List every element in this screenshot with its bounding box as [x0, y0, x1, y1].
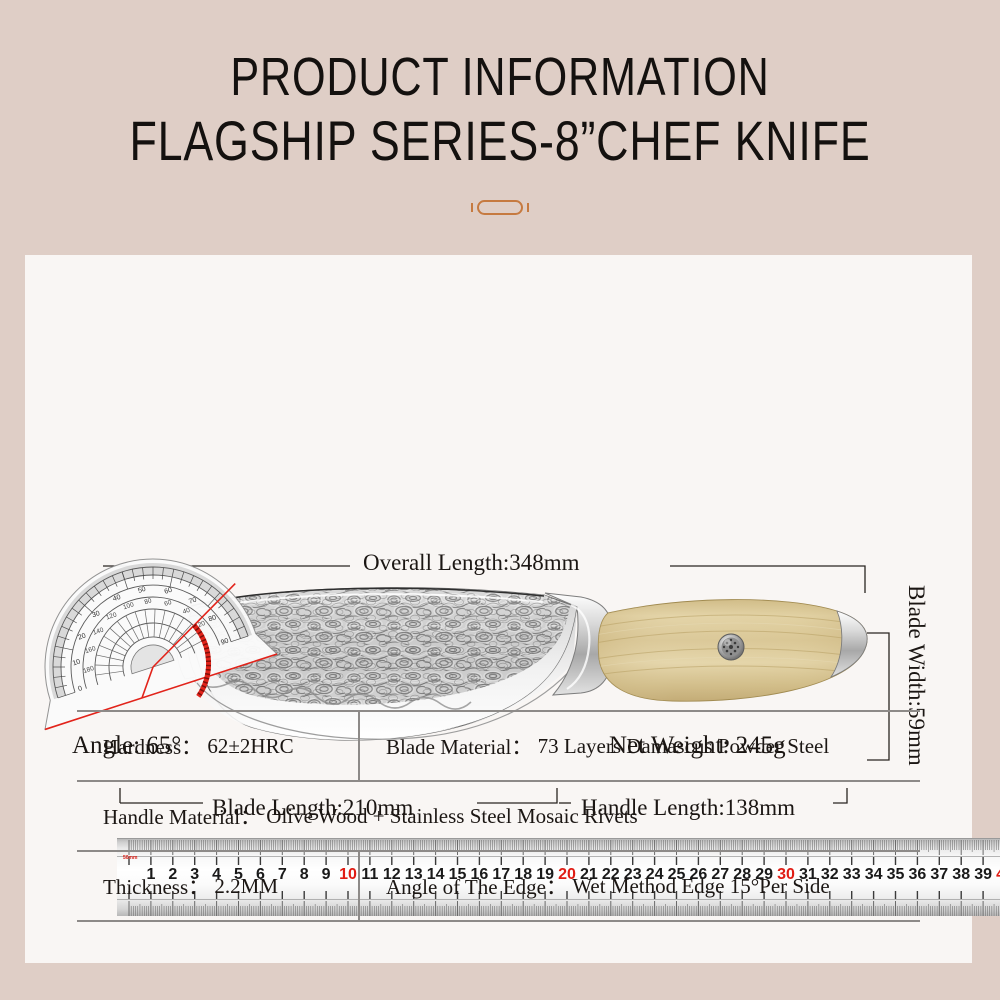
product-info-page: PRODUCT INFORMATION FLAGSHIP SERIES-8”CH…	[0, 0, 1000, 1000]
ornament-pill-icon	[477, 200, 523, 215]
spec-cell: Hardness： 62±2HRC	[77, 712, 360, 780]
spec-cell: Angle of The Edge： Wet Method Edge 15°Pe…	[360, 852, 920, 920]
ruler-number: 38	[952, 866, 970, 884]
knife-diagram: 0 10 20 30 40 50 60 70 80 90 180 16	[25, 255, 972, 575]
spec-cell: Thickness： 2.2MM	[77, 852, 360, 920]
spec-key: Angle of The Edge：	[386, 871, 567, 901]
spec-row: Thickness： 2.2MMAngle of The Edge： Wet M…	[77, 850, 920, 922]
spec-key: Handle Material：	[103, 801, 261, 831]
dim-overall-length: Overall Length:348mm	[363, 550, 580, 576]
spec-value: Olive Wood + Stainless Steel Mosaic Rive…	[261, 804, 638, 829]
spec-value: 62±2HRC	[202, 734, 293, 759]
spec-value: 2.2MM	[209, 874, 278, 899]
spec-row: Handle Material： Olive Wood + Stainless …	[77, 780, 920, 850]
ornament-tick-left-icon	[471, 203, 473, 212]
spec-row: Hardness： 62±2HRCBlade Material： 73 Laye…	[77, 710, 920, 780]
page-title-line-1: PRODUCT INFORMATION	[100, 46, 900, 108]
content-card: 0 10 20 30 40 50 60 70 80 90 180 16	[25, 255, 972, 963]
mosaic-rivet	[718, 634, 744, 660]
spec-cell: Blade Material： 73 Layers Damascus Powde…	[360, 712, 920, 780]
spec-key: Hardness：	[103, 731, 202, 761]
spec-key: Blade Material：	[386, 731, 532, 761]
divider-ornament	[0, 196, 1000, 218]
ornament-tick-right-icon	[527, 203, 529, 212]
ruler-number: 39	[974, 866, 992, 884]
ruler-number: 40	[996, 866, 1000, 884]
spec-value: 73 Layers Damascus Powder Steel	[532, 734, 829, 759]
spec-key: Thickness：	[103, 871, 209, 901]
spec-value: Wet Method Edge 15°Per Side	[567, 874, 830, 899]
ruler-number: 37	[930, 866, 948, 884]
page-title-line-2: FLAGSHIP SERIES-8”CHEF KNIFE	[100, 108, 900, 173]
spec-cell: Handle Material： Olive Wood + Stainless …	[77, 782, 920, 850]
page-header: PRODUCT INFORMATION FLAGSHIP SERIES-8”CH…	[0, 0, 1000, 255]
specifications-table: Hardness： 62±2HRCBlade Material： 73 Laye…	[77, 710, 920, 922]
